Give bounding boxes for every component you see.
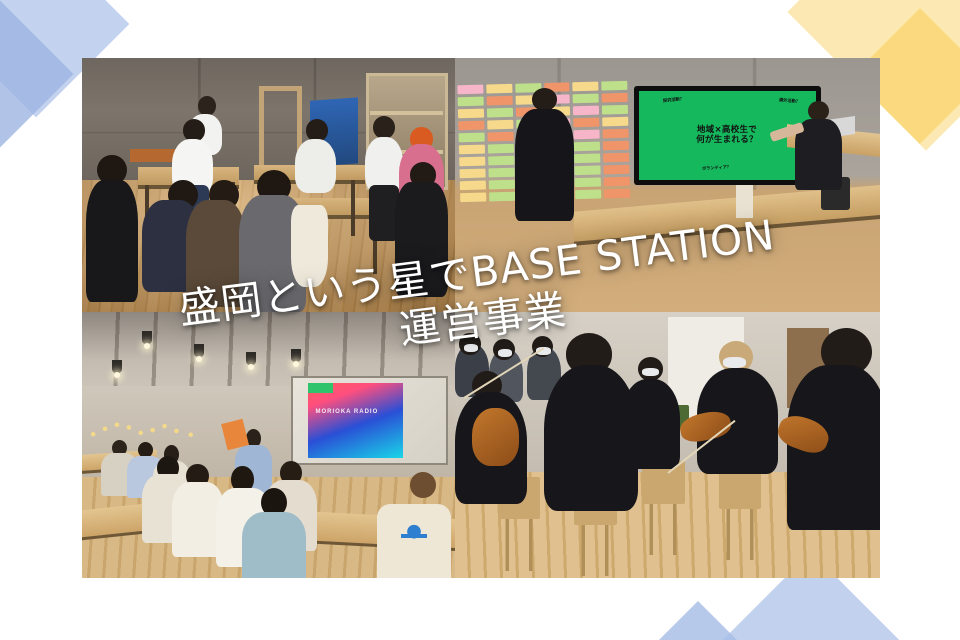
diamond-bottom-right-blue	[633, 601, 763, 640]
slide-text: MORIOKA RADIO	[315, 408, 395, 417]
pendant-lamp	[112, 360, 122, 373]
tshirt-logo	[401, 523, 428, 559]
pendant-lamp	[142, 331, 152, 344]
tote-bag	[291, 205, 328, 286]
standing-card	[736, 185, 753, 218]
person-body	[186, 200, 246, 307]
pendant-lamp	[291, 349, 301, 362]
diamond-top-left-blue	[0, 0, 74, 147]
screen-main-text-line1: 地域×高校生で	[696, 125, 758, 136]
photo-presentation: 探究活動？ 課外活動？ 地域×高校生で 何が生まれる？ ボランティア？	[455, 58, 880, 312]
photo-workshop	[82, 58, 455, 312]
projection-screen: MORIOKA RADIO	[291, 376, 448, 465]
cello	[472, 408, 519, 467]
person-body	[295, 139, 336, 192]
projected-slide: MORIOKA RADIO	[308, 383, 403, 458]
string-lights	[86, 418, 205, 445]
photo-seminar: MORIOKA RADIO	[82, 312, 455, 578]
face-mask	[498, 349, 513, 357]
slide-canvas: 探究活動？ 課外活動？ 地域×高校生で 何が生まれる？ ボランティア？	[0, 0, 960, 640]
screen-main-text-line2: 何が生まれる？	[696, 135, 758, 146]
face-mask	[642, 368, 659, 376]
photo-ensemble	[455, 312, 880, 578]
attendee-body	[242, 512, 305, 579]
table-leg	[351, 180, 355, 236]
pendant-lamp	[194, 344, 204, 357]
person-body	[86, 180, 138, 302]
face-mask	[723, 357, 746, 368]
presenter-body	[515, 109, 575, 221]
person-body	[395, 182, 447, 296]
slide-accent-bar	[308, 383, 333, 393]
screen-note-bottom: ボランティア？	[702, 164, 731, 172]
screen-note-top-left: 探究活動？	[663, 96, 684, 104]
pendant-lamp	[246, 352, 256, 365]
screen-note-top-right: 課外活動？	[778, 97, 799, 105]
face-mask	[464, 344, 479, 352]
volunteer-tshirt	[377, 504, 452, 578]
screen-main-text: 地域×高校生で 何が生まれる？	[696, 125, 758, 146]
musician-body	[621, 379, 681, 469]
photo-collage: 探究活動？ 課外活動？ 地域×高校生で 何が生まれる？ ボランティア？	[82, 58, 880, 578]
